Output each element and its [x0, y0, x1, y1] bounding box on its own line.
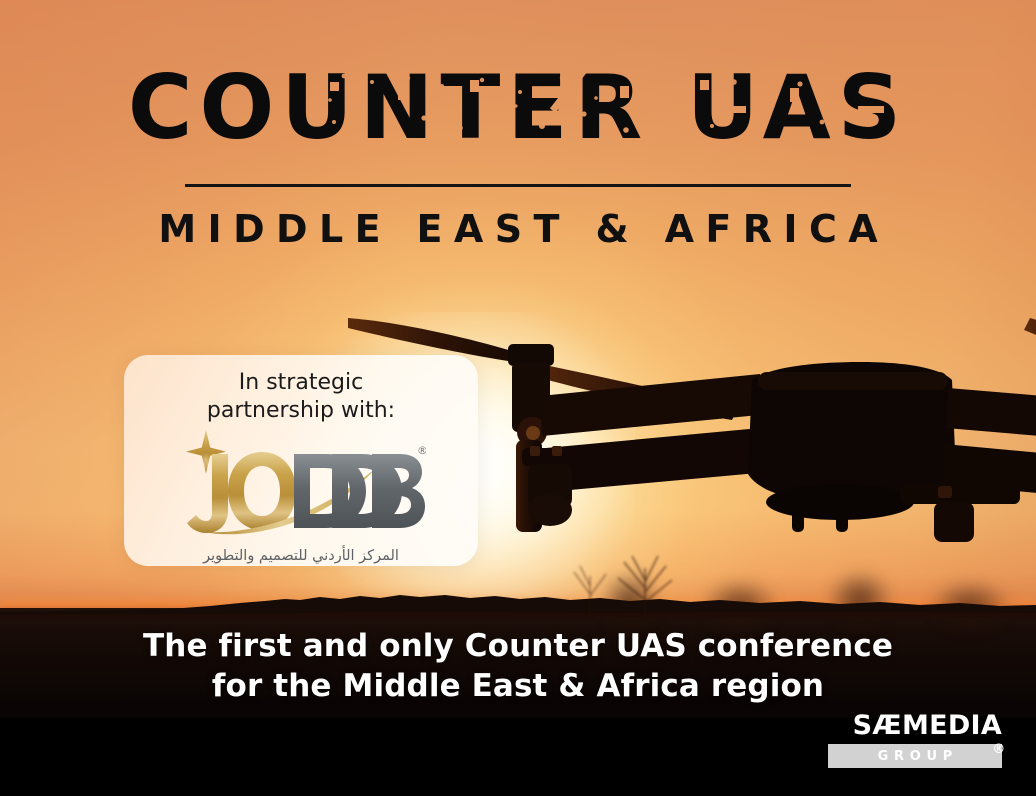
- sae-media-rest: MEDIA: [902, 712, 1002, 739]
- page-subtitle: MIDDLE EAST & AFRICA: [0, 207, 1036, 251]
- sae-group-bar: GROUP ®: [828, 744, 1002, 768]
- sae-s: S: [853, 712, 873, 739]
- joddb-arabic-text: المركز الأردني للتصميم والتطوير: [176, 547, 426, 565]
- sae-media-group-logo: SÆ MEDIA GROUP ®: [828, 712, 1002, 768]
- tagline: The first and only Counter UAS conferenc…: [0, 626, 1036, 707]
- poster: COUNTER UAS MIDDLE EAST & AFRICA In stra…: [0, 0, 1036, 796]
- sae-group-label: GROUP: [872, 749, 958, 764]
- title-divider: [185, 184, 851, 187]
- partner-card: In strategic partnership with:: [124, 355, 478, 566]
- sae-ae-ligature: Æ: [872, 712, 902, 739]
- sae-media-wordmark: SÆ MEDIA: [828, 712, 1002, 739]
- registered-mark: ®: [417, 444, 426, 457]
- registered-mark: ®: [987, 742, 1011, 757]
- title-block: COUNTER UAS MIDDLE EAST & AFRICA: [0, 52, 1036, 251]
- partner-label: In strategic partnership with:: [207, 369, 395, 424]
- joddb-logo: ® المركز الأردني للتصميم والتطوير JORDAN…: [176, 428, 426, 566]
- svg-text:COUNTER UAS: COUNTER UAS: [128, 56, 908, 159]
- page-title: COUNTER UAS: [0, 52, 1036, 162]
